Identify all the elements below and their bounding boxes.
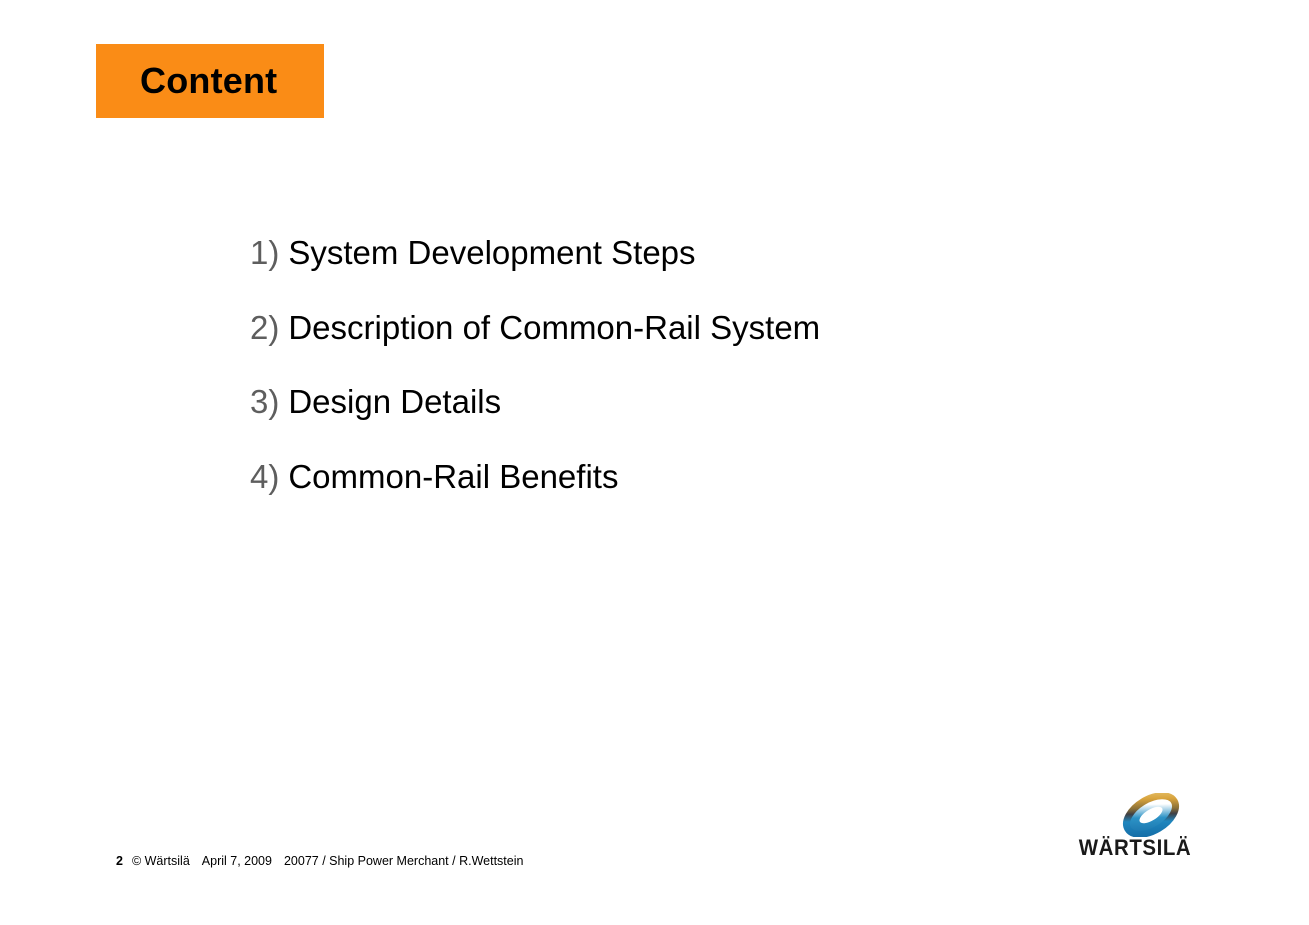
list-item[interactable]: 4) Common-Rail Benefits (250, 460, 1150, 535)
wartsila-logo: WÄRTSILÄ (1072, 793, 1198, 871)
list-item-label: Common-Rail Benefits (288, 460, 618, 493)
list-item-number: 3) (250, 385, 279, 418)
list-item-label: Design Details (288, 385, 501, 418)
list-item[interactable]: 3) Design Details (250, 385, 1150, 460)
title-banner: Content (96, 44, 324, 118)
page-title: Content (140, 63, 277, 99)
list-item-number: 1) (250, 236, 279, 269)
wartsila-wordmark: WÄRTSILÄ (1076, 837, 1193, 859)
footer-meta: 20077 / Ship Power Merchant / R.Wettstei… (284, 854, 523, 868)
wartsila-swoosh-icon (1120, 793, 1182, 837)
slide-footer: 2 © Wärtsilä April 7, 2009 20077 / Ship … (116, 854, 523, 868)
agenda-list: 1) System Development Steps 2) Descripti… (250, 236, 1150, 534)
list-item-label: System Development Steps (288, 236, 695, 269)
list-item-number: 2) (250, 311, 279, 344)
list-item[interactable]: 1) System Development Steps (250, 236, 1150, 311)
list-item-number: 4) (250, 460, 279, 493)
slide: Content 1) System Development Steps 2) D… (0, 0, 1309, 925)
footer-copyright: © Wärtsilä (132, 854, 190, 868)
footer-date: April 7, 2009 (202, 854, 272, 868)
list-item-label: Description of Common-Rail System (288, 311, 820, 344)
list-item[interactable]: 2) Description of Common-Rail System (250, 311, 1150, 386)
page-number: 2 (116, 854, 123, 868)
